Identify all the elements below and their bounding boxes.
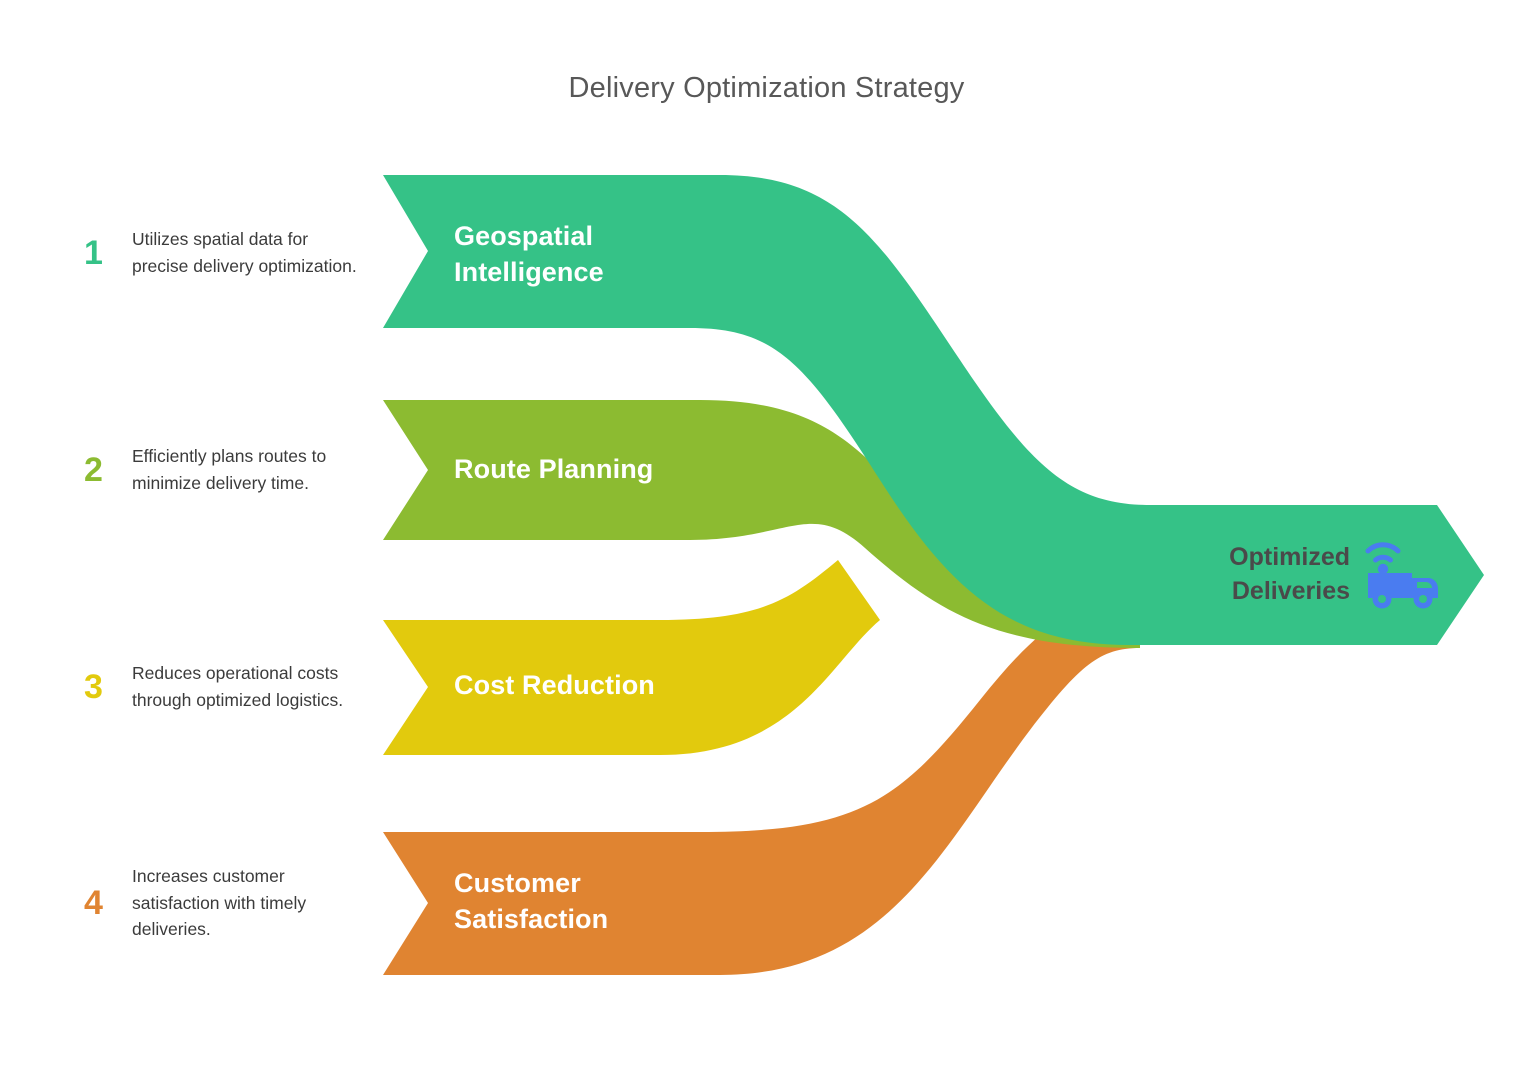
- step-number-3: 3: [78, 670, 120, 704]
- step-number-4: 4: [78, 886, 120, 920]
- step-item-3: 3 Reduces operational costs through opti…: [78, 632, 368, 742]
- step-description-1: Utilizes spatial data for precise delive…: [120, 226, 368, 279]
- step-number-2: 2: [78, 453, 120, 487]
- step-item-4: 4 Increases customer satisfaction with t…: [78, 848, 368, 958]
- step-item-1: 1 Utilizes spatial data for precise deli…: [78, 198, 368, 308]
- step-description-2: Efficiently plans routes to minimize del…: [120, 443, 368, 496]
- infographic-canvas: Delivery Optimization Strategy 1 Utilize…: [0, 0, 1533, 1066]
- flow-band-cost-reduction: [383, 560, 880, 755]
- step-number-1: 1: [78, 236, 120, 270]
- step-description-4: Increases customer satisfaction with tim…: [120, 863, 368, 943]
- step-item-2: 2 Efficiently plans routes to minimize d…: [78, 415, 368, 525]
- step-description-3: Reduces operational costs through optimi…: [120, 660, 368, 713]
- delivery-truck-connected-icon: [1362, 536, 1444, 612]
